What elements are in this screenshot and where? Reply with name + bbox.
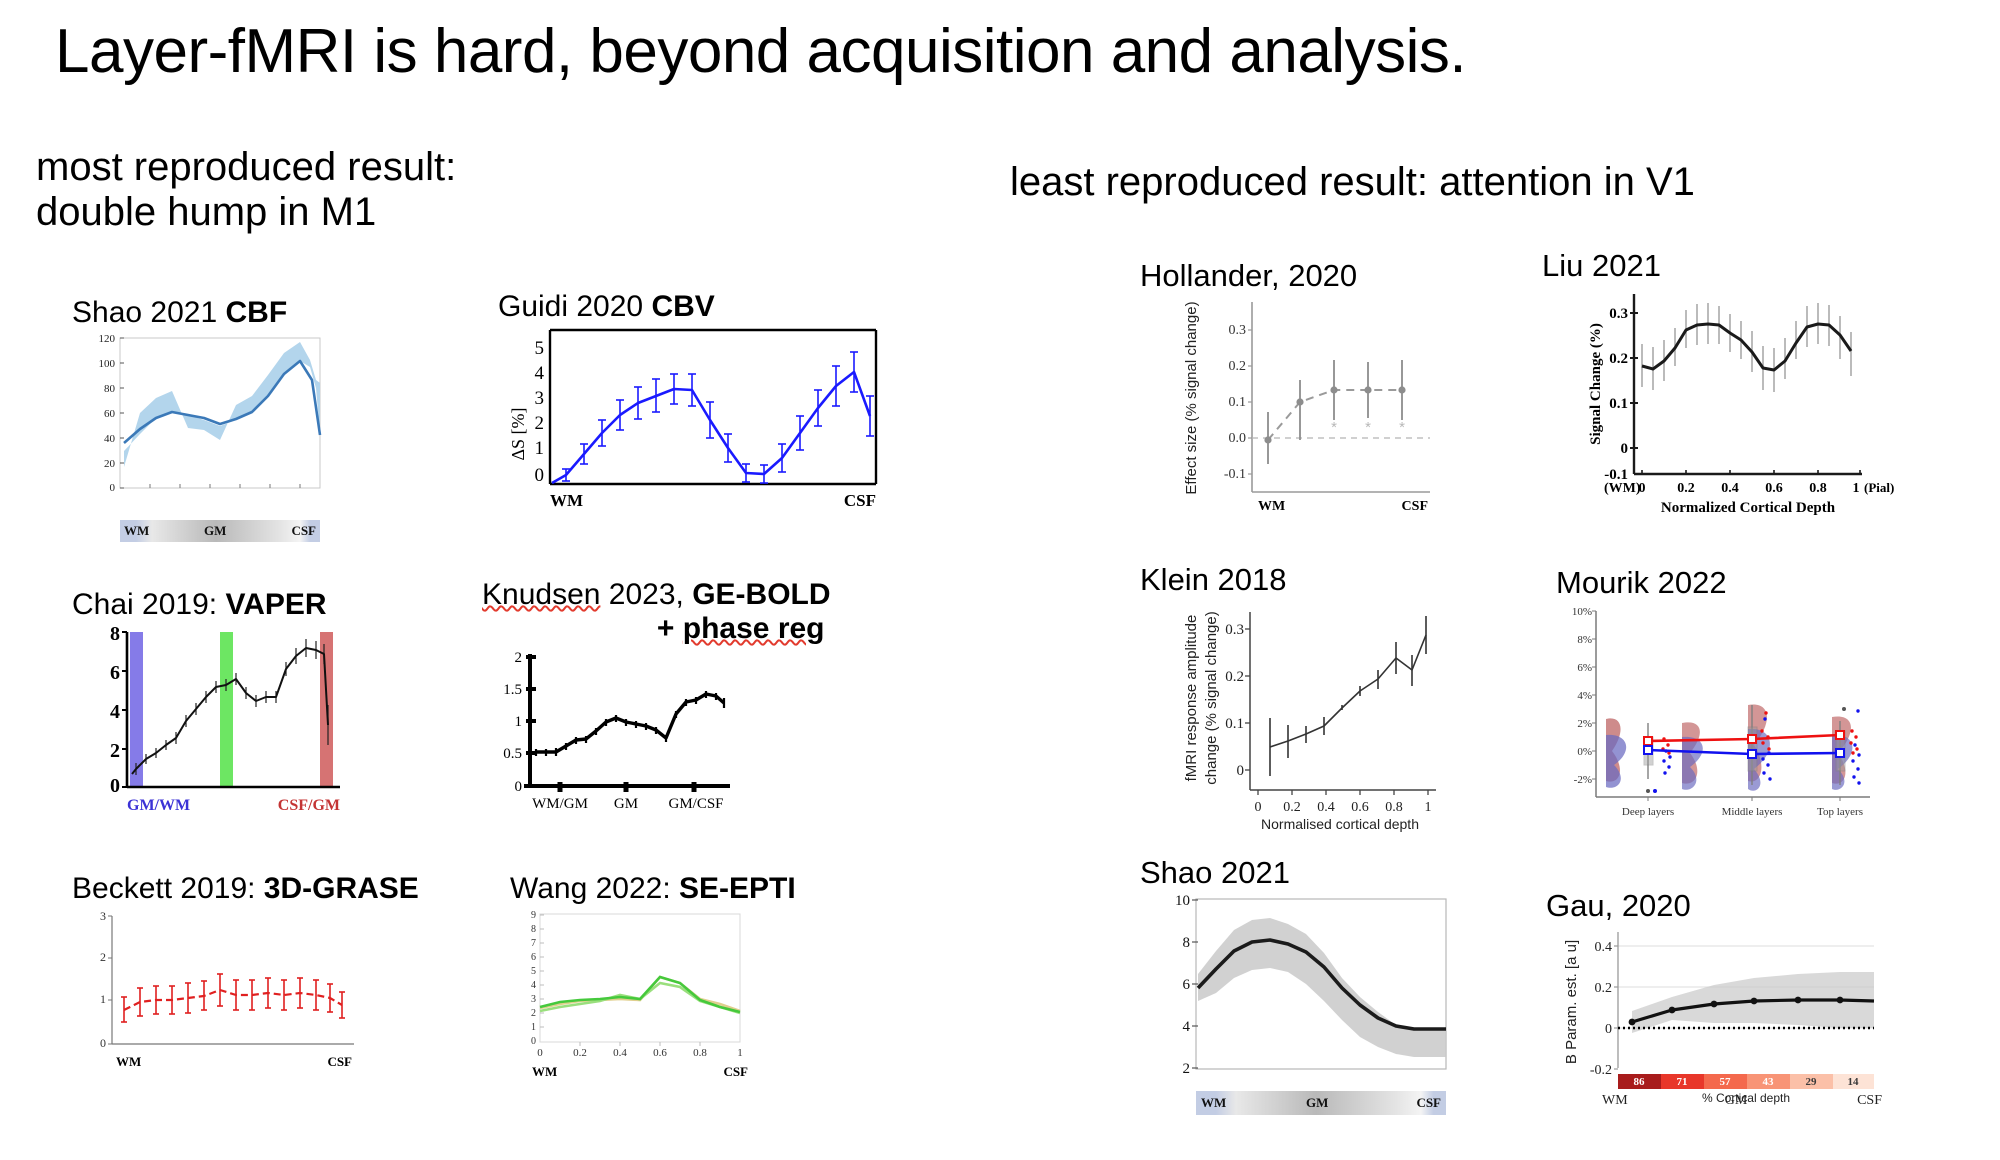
svg-text:6: 6 (1183, 977, 1191, 993)
svg-text:0.2: 0.2 (1595, 981, 1613, 996)
x-label-gau-csf: CSF (1857, 1093, 1882, 1108)
panel-title-beckett: Beckett 2019: 3D-GRASE (72, 872, 419, 906)
x-label-guidi-csf: CSF (844, 491, 876, 510)
svg-text:0: 0 (110, 482, 116, 494)
svg-text:0.2: 0.2 (573, 1047, 587, 1059)
left-heading-line-1: most reproduced result: (36, 145, 456, 190)
left-section-heading: most reproduced result: double hump in M… (36, 145, 456, 235)
svg-text:8: 8 (110, 623, 120, 645)
x-tick-suffix-liu: (Pial) (1864, 480, 1894, 495)
chart-klein: 0.30.20.10 fMRI response amplitude chang… (1140, 598, 1440, 838)
panel-hollander: Hollander, 2020 0.30.20.1 0.0-0.1 Effect… (1140, 258, 1440, 524)
svg-text:6: 6 (110, 662, 120, 684)
x-label-wang-wm: WM (532, 1064, 557, 1079)
svg-text:6%: 6% (1577, 662, 1592, 674)
chart-gau: 0.40.20-0.2 B Param. est. [a u] 86 71 57 (1546, 924, 1886, 1114)
svg-text:0.2: 0.2 (1283, 800, 1301, 815)
panel-title-knudsen-line2: + phase reg (482, 612, 831, 646)
svg-text:2%: 2% (1577, 718, 1592, 730)
right-section-heading: least reproduced result: attention in V1 (1010, 160, 1695, 205)
chart-shao-cbf: 12010080 6040200 (72, 330, 332, 520)
x-axis-label-liu: Normalized Cortical Depth (1661, 500, 1836, 516)
panel-title-mourik: Mourik 2022 (1556, 565, 1876, 601)
x-label-guidi-wm: WM (550, 491, 583, 510)
svg-text:0: 0 (1237, 763, 1245, 779)
svg-text:120: 120 (99, 333, 116, 345)
svg-text:0: 0 (1621, 441, 1629, 457)
svg-text:0: 0 (531, 1036, 536, 1047)
svg-text:0.6: 0.6 (1351, 800, 1369, 815)
svg-text:0: 0 (515, 779, 523, 795)
svg-text:3: 3 (100, 909, 106, 923)
x-axis-label-klein: Normalised cortical depth (1261, 816, 1419, 832)
svg-text:4: 4 (110, 701, 120, 723)
y-axis-label-gau: B Param. est. [a u] (1563, 940, 1580, 1064)
svg-text:60: 60 (104, 408, 116, 420)
svg-text:0.2: 0.2 (1609, 351, 1628, 367)
panel-title-hollander: Hollander, 2020 (1140, 258, 1440, 294)
svg-text:0.4: 0.4 (613, 1047, 627, 1059)
svg-text:8%: 8% (1577, 634, 1592, 646)
svg-text:5: 5 (535, 338, 545, 359)
chart-shao2: 1086 42 (1140, 891, 1460, 1091)
x-label-beckett-wm: WM (116, 1054, 141, 1069)
svg-text:71: 71 (1677, 1076, 1688, 1088)
chart-guidi-cbv: 543 210 ΔS [%] WM CSF (498, 324, 888, 524)
svg-text:0: 0 (1605, 1022, 1612, 1037)
x-cat-mourik-top: Top layers (1817, 806, 1863, 818)
svg-text:3: 3 (535, 388, 545, 409)
panel-liu: Liu 2021 0.30.20.1 0-0.1 Signal Change (… (1542, 248, 1882, 524)
svg-text:0.2: 0.2 (1229, 359, 1247, 374)
svg-text:0.5: 0.5 (503, 746, 522, 762)
svg-text:*: * (1399, 419, 1405, 436)
svg-text:0.2: 0.2 (1225, 669, 1244, 685)
x-label-chai-csfgm: CSF/GM (278, 797, 340, 814)
svg-text:0: 0 (535, 465, 545, 486)
svg-text:8: 8 (531, 924, 536, 935)
svg-text:0.3: 0.3 (1229, 323, 1247, 338)
chart-liu: 0.30.20.1 0-0.1 Signal Change (%) (1542, 284, 1882, 524)
svg-text:0.4: 0.4 (1721, 481, 1739, 496)
svg-text:86: 86 (1634, 1076, 1646, 1088)
panel-shao-cbf: Shao 2021 CBF 12010080 6040200 WM GM CSF (72, 296, 332, 542)
svg-text:0.6: 0.6 (653, 1047, 667, 1059)
y-axis-label-guidi: ΔS [%] (508, 407, 528, 460)
svg-text:7: 7 (531, 938, 536, 949)
svg-text:0.3: 0.3 (1609, 306, 1628, 322)
svg-text:1: 1 (1853, 481, 1860, 496)
svg-text:-0.1: -0.1 (1224, 467, 1246, 482)
svg-text:9: 9 (531, 910, 536, 921)
chart-hollander: 0.30.20.1 0.0-0.1 Effect size (% signal … (1140, 294, 1440, 524)
svg-text:1: 1 (1425, 800, 1432, 815)
svg-text:4%: 4% (1577, 690, 1592, 702)
panel-chai-vaper: Chai 2019: VAPER 864 20 (72, 588, 362, 822)
panel-shao2: Shao 2021 1086 42 WM GM CSF (1140, 855, 1460, 1115)
svg-text:2: 2 (515, 650, 523, 666)
panel-title-chai: Chai 2019: VAPER (72, 588, 362, 622)
svg-text:2: 2 (531, 1008, 536, 1019)
svg-text:0.8: 0.8 (1385, 800, 1403, 815)
chart-chai-vaper: 864 20 GM/WM CSF/GM (72, 622, 362, 822)
x-label-hollander-csf: CSF (1402, 499, 1428, 514)
panel-klein: Klein 2018 0.30.20.10 fMRI response ampl… (1140, 562, 1440, 838)
x-label-gau-gm: GM (1725, 1093, 1748, 1108)
svg-text:8: 8 (1183, 935, 1191, 951)
svg-text:0: 0 (100, 1036, 106, 1050)
svg-text:0.0: 0.0 (1229, 431, 1247, 446)
panel-title-shao-cbf: Shao 2021 CBF (72, 296, 332, 330)
svg-text:2: 2 (100, 950, 106, 964)
svg-text:29: 29 (1806, 1076, 1818, 1088)
panel-title-wang: Wang 2022: SE-EPTI (510, 872, 796, 906)
svg-text:0.4: 0.4 (1317, 800, 1335, 815)
page-title: Layer-fMRI is hard, beyond acquisition a… (55, 16, 1466, 87)
svg-text:-2%: -2% (1574, 774, 1592, 786)
depth-colour-strip-gau: 86 71 57 43 29 14 (1618, 1074, 1874, 1089)
svg-text:20: 20 (104, 458, 116, 470)
x-label-chai-gmwm: GM/WM (127, 797, 190, 814)
svg-text:1.5: 1.5 (503, 682, 522, 698)
svg-text:80: 80 (104, 383, 116, 395)
svg-text:6: 6 (531, 952, 536, 963)
svg-text:0.8: 0.8 (693, 1047, 707, 1059)
band-middle (220, 632, 233, 787)
svg-text:0.1: 0.1 (1225, 716, 1244, 732)
svg-text:0.4: 0.4 (1595, 940, 1613, 955)
panel-beckett: Beckett 2019: 3D-GRASE 3210 (72, 872, 419, 1086)
svg-text:1: 1 (531, 1022, 536, 1033)
svg-text:5: 5 (531, 966, 536, 977)
x-label-knudsen-gm: GM (614, 796, 638, 812)
chart-wang: 987 654 3210 00.20.4 0.60.81 WM CSF (510, 906, 770, 1084)
panel-knudsen: Knudsen 2023, GE-BOLD + phase reg 21.51 … (482, 578, 831, 826)
y-axis-label-klein-line1: fMRI response amplitude (1183, 615, 1200, 782)
svg-text:10: 10 (1175, 893, 1190, 909)
chart-beckett: 3210 WM CSF (72, 906, 372, 1086)
svg-text:1: 1 (737, 1047, 743, 1059)
svg-text:-0.2: -0.2 (1590, 1063, 1612, 1078)
svg-text:0: 0 (537, 1047, 543, 1059)
svg-text:100: 100 (99, 358, 116, 370)
svg-text:2: 2 (1183, 1061, 1191, 1077)
panel-title-klein: Klein 2018 (1140, 562, 1440, 598)
panel-title-liu: Liu 2021 (1542, 248, 1882, 284)
svg-text:4: 4 (1183, 1019, 1191, 1035)
chart-knudsen: 21.51 0.50 WM/GM GM GM/CSF (482, 646, 762, 826)
svg-text:43: 43 (1763, 1076, 1775, 1088)
left-heading-line-2: double hump in M1 (36, 190, 456, 235)
svg-text:0.6: 0.6 (1765, 481, 1783, 496)
svg-text:0.3: 0.3 (1225, 622, 1244, 638)
svg-text:1: 1 (100, 992, 106, 1006)
svg-text:3: 3 (531, 994, 536, 1005)
svg-text:14: 14 (1848, 1076, 1860, 1088)
svg-text:2: 2 (535, 413, 545, 434)
svg-text:40: 40 (104, 433, 116, 445)
y-axis-label-klein-line2: change (% signal change) (1203, 611, 1220, 784)
svg-text:0: 0 (110, 775, 120, 797)
y-axis-label-liu: Signal Change (%) (1588, 323, 1604, 445)
svg-text:4: 4 (535, 363, 545, 384)
panel-title-guidi-cbv: Guidi 2020 CBV (498, 290, 888, 324)
panel-gau: Gau, 2020 0.40.20-0.2 B Param. est. [a u… (1546, 888, 1886, 1114)
panel-wang: Wang 2022: SE-EPTI 987 654 3210 00.20.4 … (510, 872, 796, 1084)
svg-text:1: 1 (515, 714, 523, 730)
x-label-hollander-wm: WM (1258, 499, 1285, 514)
svg-text:1: 1 (535, 438, 545, 459)
panel-title-gau: Gau, 2020 (1546, 888, 1886, 924)
svg-text:0.8: 0.8 (1809, 481, 1827, 496)
svg-text:4: 4 (531, 980, 536, 991)
x-label-gau-wm: WM (1602, 1093, 1628, 1108)
svg-text:0.2: 0.2 (1677, 481, 1695, 496)
chart-mourik: 10%8%6% 4%2%0%-2% (1556, 601, 1876, 831)
panel-title-knudsen: Knudsen 2023, GE-BOLD (482, 578, 831, 612)
svg-text:*: * (1331, 419, 1337, 436)
svg-text:10%: 10% (1572, 606, 1592, 618)
x-tick-prefix-liu: (WM) (1604, 481, 1641, 496)
depth-axis-shao2: WM GM CSF (1196, 1091, 1446, 1115)
x-label-wang-csf: CSF (723, 1064, 748, 1079)
svg-text:*: * (1365, 419, 1371, 436)
svg-text:0.1: 0.1 (1609, 396, 1628, 412)
x-cat-mourik-middle: Middle layers (1722, 806, 1783, 818)
panel-mourik: Mourik 2022 10%8%6% 4%2%0%-2% (1556, 565, 1876, 831)
x-label-knudsen-wmgm: WM/GM (532, 796, 588, 812)
x-label-beckett-csf: CSF (327, 1054, 352, 1069)
depth-axis-shao-cbf: WM GM CSF (120, 520, 320, 542)
svg-text:0: 0 (1255, 800, 1262, 815)
x-cat-mourik-deep: Deep layers (1622, 806, 1674, 818)
svg-text:2: 2 (110, 740, 120, 762)
svg-text:57: 57 (1720, 1076, 1732, 1088)
svg-text:0%: 0% (1577, 746, 1592, 758)
x-label-knudsen-gmcsf: GM/CSF (668, 796, 723, 812)
panel-title-shao2: Shao 2021 (1140, 855, 1460, 891)
svg-text:0.1: 0.1 (1229, 395, 1247, 410)
panel-guidi-cbv: Guidi 2020 CBV 543 210 ΔS [%] (498, 290, 888, 524)
y-axis-label-hollander: Effect size (% signal change) (1183, 301, 1200, 494)
